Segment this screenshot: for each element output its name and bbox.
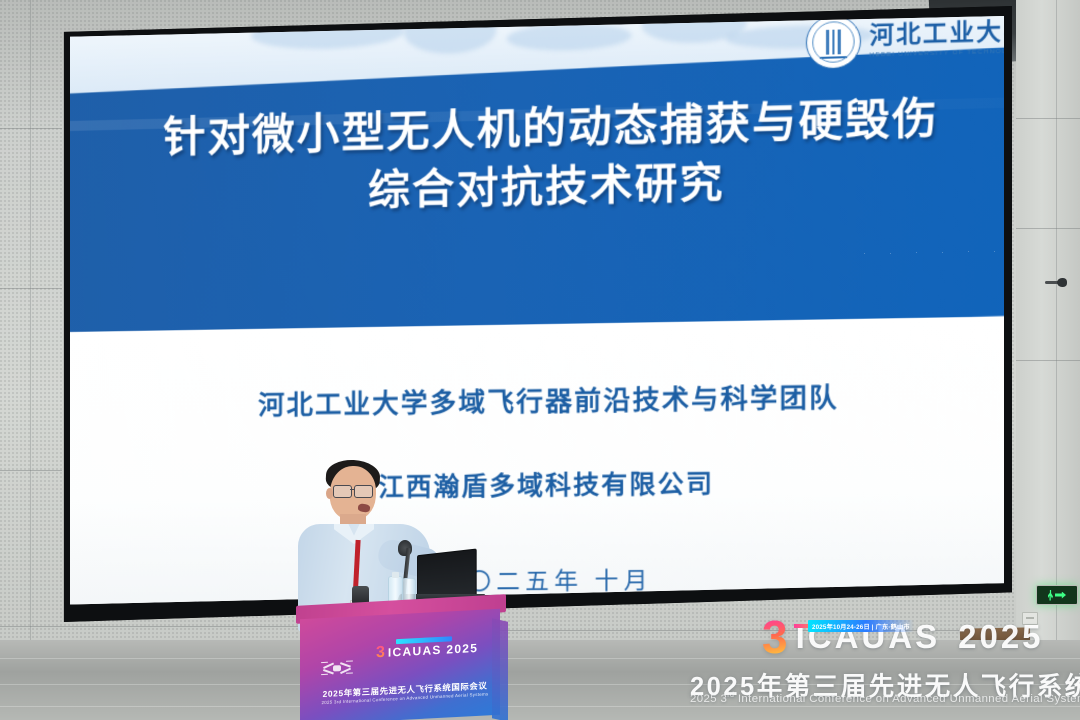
branding-title-en: 2025 3rd International Conference on Adv… — [690, 692, 1080, 705]
podium-side-panel — [492, 618, 508, 720]
branding-date-badge: 2025年10月24-26日 | 广东·鹤山市 — [808, 620, 914, 632]
branding-title-en-post: International Conference on Advanced Unm… — [734, 693, 1080, 705]
drone-icon — [322, 659, 352, 679]
wall-seam — [30, 0, 31, 640]
arrow-right-icon — [1055, 592, 1066, 599]
podium-logo: 3 ICAUAS 2025 — [376, 639, 494, 661]
podium-logo-name: ICAUAS 2025 — [388, 641, 478, 660]
wall-seam — [1016, 228, 1080, 229]
wall-seam — [0, 128, 62, 129]
presentation-photo: 河北工业大学 HEBEI UNIVERSITY OF TECHNOLOGY 针对… — [0, 0, 1080, 720]
university-seal-icon — [806, 16, 861, 70]
projection-screen: 河北工业大学 HEBEI UNIVERSITY OF TECHNOLOGY 针对… — [62, 6, 1012, 622]
podium-logo-ordinal: 3 — [376, 645, 385, 661]
slide-affiliation: 河北工业大学多域飞行器前沿技术与科学团队 江西瀚盾多域科技有限公司 二〇二五年 … — [70, 374, 1004, 599]
branding-ordinal: 3 — [762, 619, 788, 656]
university-name-cn: 河北工业大学 — [870, 19, 1004, 47]
conference-branding: 3 ICAUAS 2025 2025年10月24-26日 | 广东·鹤山市 20… — [690, 612, 1080, 708]
university-logo: 河北工业大学 HEBEI UNIVERSITY OF TECHNOLOGY — [806, 16, 1004, 75]
wall-seam — [0, 470, 62, 471]
running-person-icon — [1048, 590, 1053, 601]
presentation-slide: 河北工业大学 HEBEI UNIVERSITY OF TECHNOLOGY 针对… — [70, 16, 1004, 608]
slide-title: 针对微小型无人机的动态捕获与硬毁伤 综合对抗技术研究 — [70, 86, 1004, 225]
camera-icon — [1045, 278, 1067, 287]
university-name-en: HEBEI UNIVERSITY OF TECHNOLOGY — [870, 48, 1004, 59]
wall-seam — [1016, 360, 1080, 361]
podium: 3 ICAUAS 2025 2025年第三届先进无人飞行系统国际会议 2025 … — [296, 600, 506, 720]
emergency-exit-sign — [1036, 585, 1078, 605]
branding-year: 2025 — [958, 618, 1043, 656]
podium-front-panel: 3 ICAUAS 2025 2025年第三届先进无人飞行系统国际会议 2025 … — [300, 609, 500, 720]
branding-title-en-pre: 2025 3 — [690, 693, 727, 705]
wall-seam — [1016, 118, 1080, 119]
wall-seam — [0, 288, 62, 289]
affiliation-company: 江西瀚盾多域科技有限公司 — [70, 460, 1004, 507]
glasses-icon — [332, 485, 376, 497]
wall-seam — [0, 626, 300, 627]
